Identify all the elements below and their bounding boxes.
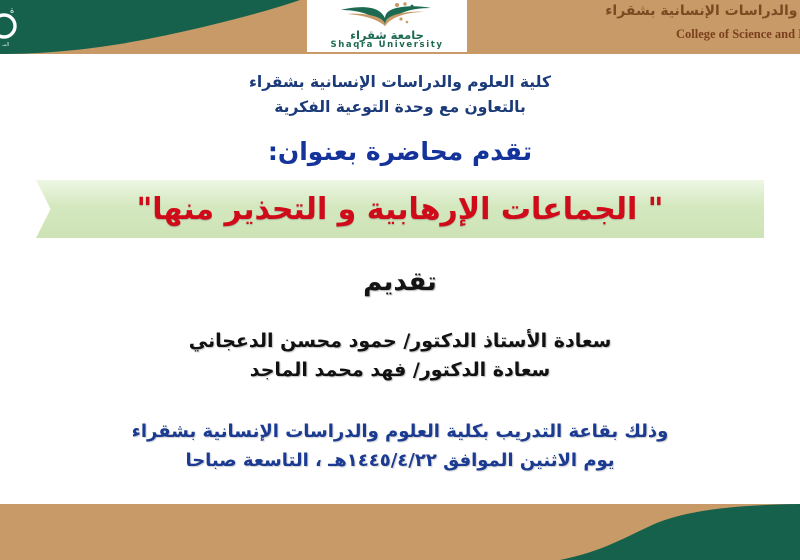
top-band-base (0, 54, 800, 62)
venue-and-time: وذلك بقاعة التدريب بكلية العلوم والدراسا… (0, 417, 800, 475)
lecture-announcement-poster: ة المـ جامعة شقراء Shaqra University كلي… (0, 0, 800, 560)
lecture-title-banner: " الجماعات الإرهابية و التحذير منها" (36, 180, 764, 238)
presenter-list: سعادة الأستاذ الدكتور/ حمود محسن الدعجان… (0, 327, 800, 386)
organizer-line-2: بالتعاون مع وحدة التوعية الفكرية (0, 95, 800, 120)
organizer-line-1: كلية العلوم والدراسات الإنسانية بشقراء (0, 70, 800, 95)
logo-english-name: Shaqra University (330, 41, 443, 50)
university-logo: جامعة شقراء Shaqra University (307, 0, 467, 52)
venue-line: وذلك بقاعة التدريب بكلية العلوم والدراسا… (0, 417, 800, 446)
header-college-arabic: كلية العلوم والدراسات الإنسانية بشقراء (590, 4, 800, 19)
lecture-intro-text: تقدم محاضرة بعنوان: (0, 137, 800, 166)
presenter-name-1: سعادة الأستاذ الدكتور/ حمود محسن الدعجان… (0, 327, 800, 356)
presented-by-label: تقديم (0, 267, 800, 297)
header-college-text: كلية العلوم والدراسات الإنسانية بشقراء C… (590, 4, 800, 52)
lecture-title-banner-wrap: " الجماعات الإرهابية و التحذير منها" (0, 180, 800, 238)
poster-content: كلية العلوم والدراسات الإنسانية بشقراء ب… (0, 62, 800, 492)
header-college-english: College of Science and Humanities (590, 28, 800, 42)
organizer-lines: كلية العلوم والدراسات الإنسانية بشقراء ب… (0, 70, 800, 120)
presenter-name-2: سعادة الدكتور/ فهد محمد الماجد (0, 356, 800, 385)
datetime-line: يوم الاثنين الموافق ١٤٤٥/٤/٢٢هـ ، التاسع… (0, 446, 800, 475)
open-book-logo-icon (335, 2, 439, 30)
bottom-decorative-wave-band (0, 496, 800, 560)
lecture-title: " الجماعات الإرهابية و التحذير منها" (137, 192, 664, 227)
